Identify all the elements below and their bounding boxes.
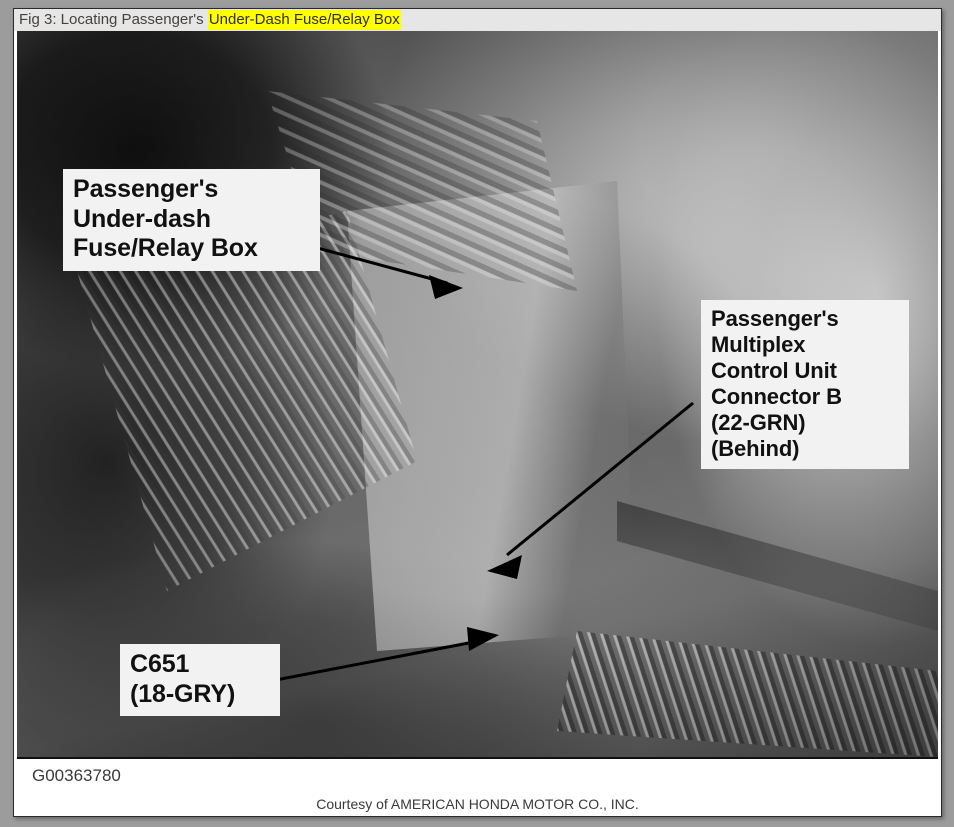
callout-c651-connector: C651 (18-GRY) [120, 644, 280, 716]
figure-photograph: Passenger's Under-dash Fuse/Relay Box Pa… [17, 31, 938, 759]
image-id-label: G00363780 [32, 766, 121, 786]
figure-panel: Fig 3: Locating Passenger's Under-Dash F… [13, 8, 942, 817]
caption-prefix-text: Fig 3: Locating Passenger's [19, 11, 208, 28]
caption-highlighted-text: Under-Dash Fuse/Relay Box [208, 10, 401, 30]
page-root: Fig 3: Locating Passenger's Under-Dash F… [0, 0, 954, 827]
figure-caption-bar: Fig 3: Locating Passenger's Under-Dash F… [14, 9, 941, 31]
courtesy-footer: Courtesy of AMERICAN HONDA MOTOR CO., IN… [14, 796, 941, 812]
callout-fuse-relay-box: Passenger's Under-dash Fuse/Relay Box [63, 169, 320, 271]
callout-multiplex-control-unit: Passenger's Multiplex Control Unit Conne… [701, 300, 909, 469]
